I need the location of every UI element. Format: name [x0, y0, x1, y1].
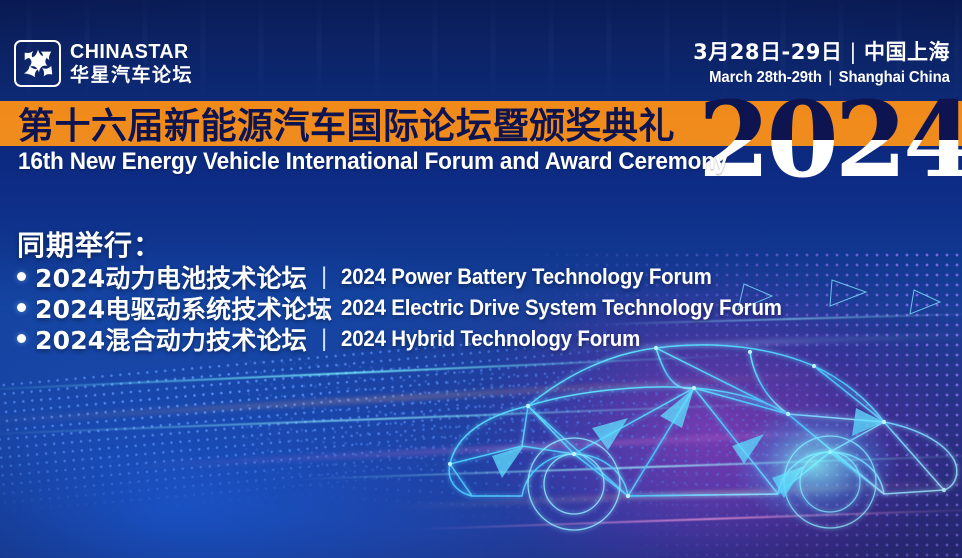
subevent-name-en: 2024 Hybrid Technology Forum [341, 326, 640, 352]
date-separator-cn: | [849, 42, 857, 63]
list-item[interactable]: 2024电驱动系统技术论坛 | 2024 Electric Drive Syst… [17, 293, 815, 322]
bullet-icon [17, 272, 26, 281]
date-location-cn: 3月28日-29日|中国上海 [691, 42, 950, 63]
page-title-en: 16th New Energy Vehicle International Fo… [18, 146, 727, 178]
location-cn-text: 中国上海 [864, 40, 950, 64]
subevent-separator: | [321, 325, 327, 353]
date-location-en: March 28th-29th|Shanghai China [709, 70, 950, 86]
subevent-name-cn: 2024混合动力技术论坛 [35, 321, 321, 357]
date-location-block: 3月28日-29日|中国上海 March 28th-29th|Shanghai … [691, 42, 950, 86]
date-en-text: March 28th-29th [709, 69, 822, 86]
location-en-text: Shanghai China [839, 69, 950, 86]
date-cn-text: 3月28日-29日 [693, 40, 842, 64]
chinastar-logo[interactable]: CHINASTAR 华星汽车论坛 [14, 40, 194, 87]
list-item[interactable]: 2024混合动力技术论坛 | 2024 Hybrid Technology Fo… [17, 324, 815, 353]
bullet-icon [17, 334, 26, 343]
event-banner: CHINASTAR 华星汽车论坛 3月28日-29日|中国上海 March 28… [0, 0, 962, 558]
logo-name-cn: 华星汽车论坛 [70, 66, 194, 85]
date-separator-en: | [829, 70, 833, 86]
subevent-separator: | [321, 294, 327, 322]
page-title-cn: 第十六届新能源汽车国际论坛暨颁奖典礼 [18, 98, 675, 148]
subevent-separator: | [321, 263, 327, 291]
subevent-name-en: 2024 Power Battery Technology Forum [341, 264, 712, 290]
subevent-name-en: 2024 Electric Drive System Technology Fo… [341, 295, 782, 321]
subevents-list: 2024动力电池技术论坛 | 2024 Power Battery Techno… [17, 262, 815, 355]
year-2024-display: 2024 2024 [698, 92, 962, 188]
list-item[interactable]: 2024动力电池技术论坛 | 2024 Power Battery Techno… [17, 262, 815, 291]
star-burst-logo-icon [14, 40, 61, 87]
bullet-icon [17, 303, 26, 312]
logo-wordmark: CHINASTAR 华星汽车论坛 [70, 42, 194, 86]
logo-name-en: CHINASTAR [70, 42, 189, 63]
